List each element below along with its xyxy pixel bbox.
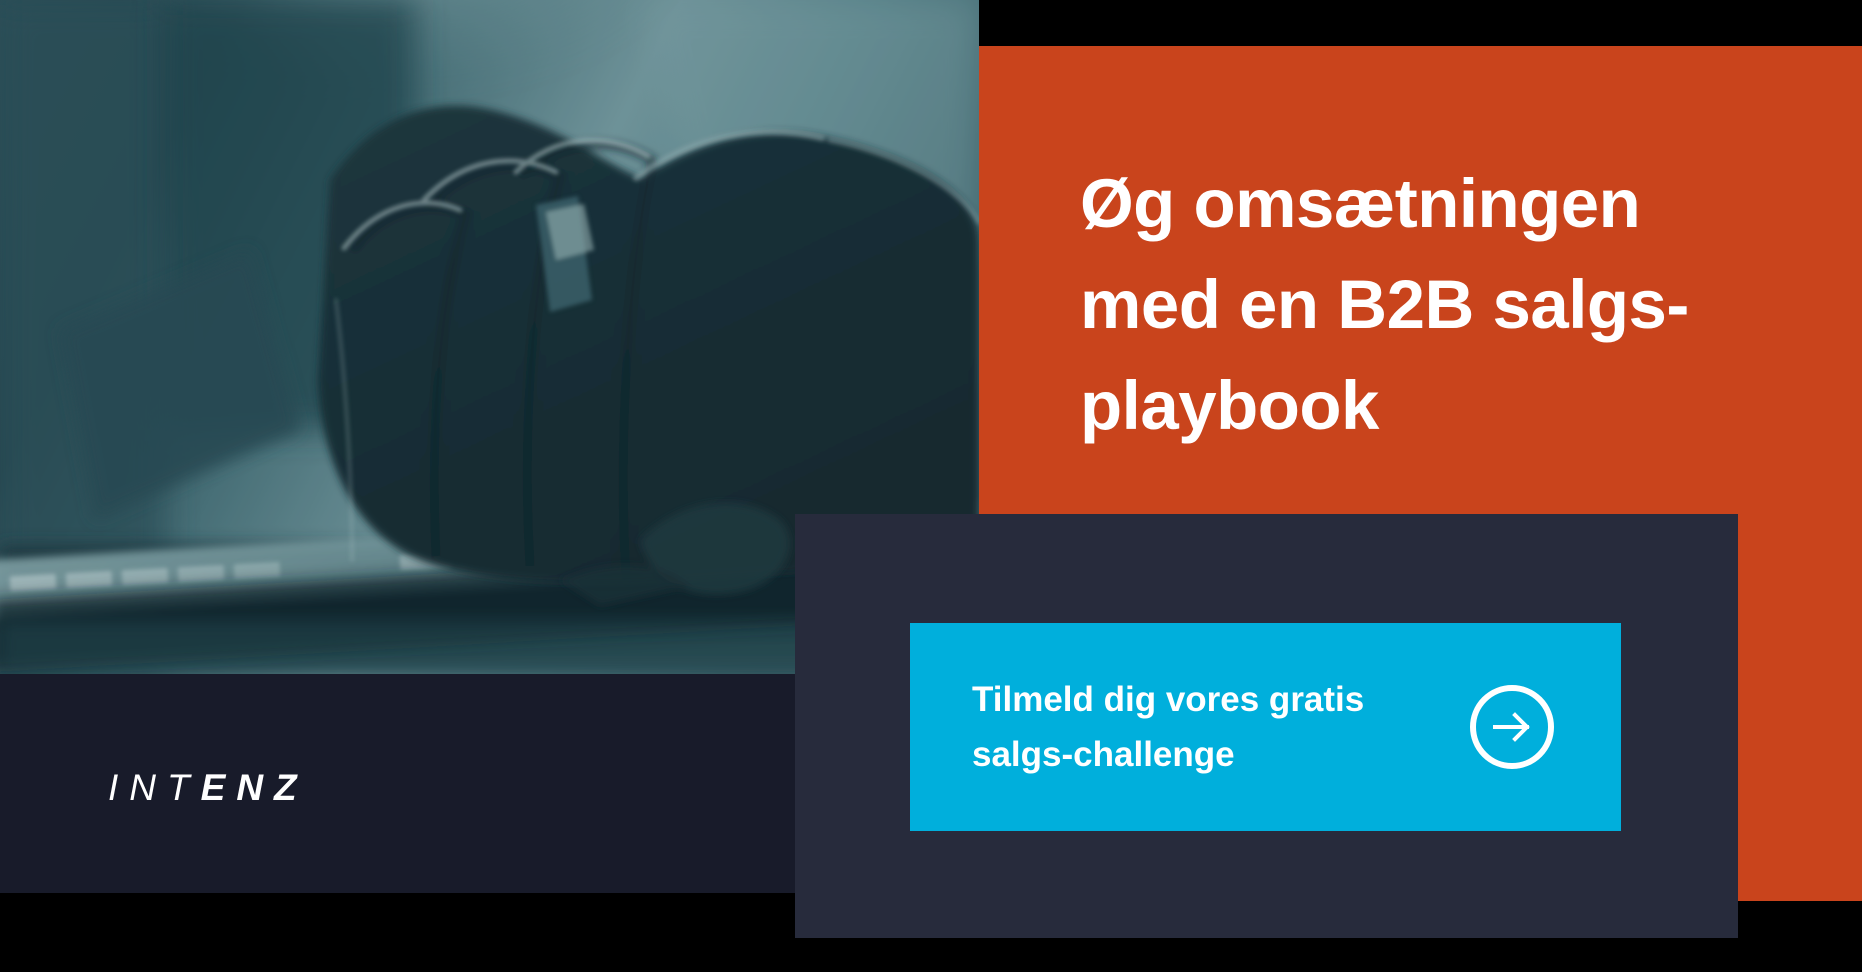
logo-letter-6: Z [274, 767, 308, 808]
signup-cta-button[interactable]: Tilmeld dig vores gratis salgs-challenge [910, 623, 1621, 831]
cta-button-label: Tilmeld dig vores gratis salgs-challenge [910, 672, 1468, 782]
logo-letter-4: E [201, 767, 237, 808]
arrow-right-circle-icon [1468, 683, 1556, 771]
promotional-banner: Øg omsætningen med en B2B salgs-playbook… [0, 0, 1862, 972]
logo-letter-1: I [108, 767, 129, 808]
page-title: Øg omsætningen med en B2B salgs-playbook [1080, 153, 1780, 456]
intenz-logo: INTENZ [108, 769, 308, 806]
logo-letter-5: N [236, 767, 274, 808]
logo-letter-2: N [129, 767, 167, 808]
logo-letter-3: T [167, 767, 201, 808]
